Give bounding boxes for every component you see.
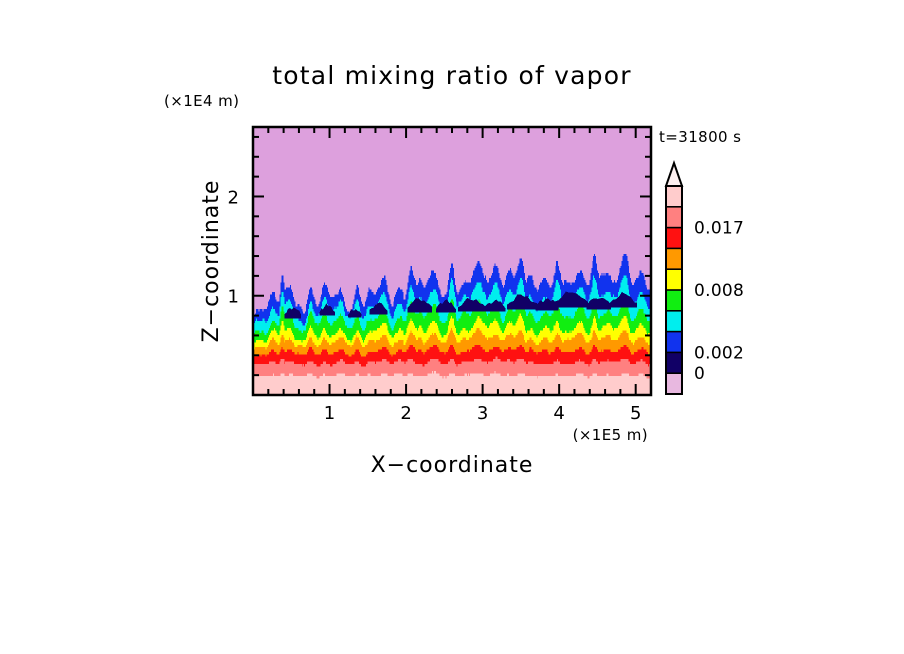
time-annotation: t=31800 s	[659, 128, 741, 146]
colorbar-tick-label: 0.008	[694, 281, 744, 301]
y-tick-label: 2	[228, 187, 239, 208]
y-axis-title: Z−coordinate	[199, 180, 224, 343]
x-axis-title: X−coordinate	[371, 453, 534, 478]
plot-area	[253, 127, 651, 395]
x-tick-label: 3	[477, 403, 488, 424]
y-axis-multiplier-label: (×1E4 m)	[164, 92, 239, 110]
colorbar-tick-label: 0	[694, 364, 705, 384]
colorbar-tick-label: 0.017	[694, 219, 744, 239]
contour-plot-figure: total mixing ratio of vapor (×1E4 m) 123…	[0, 0, 904, 654]
y-tick-label: 1	[228, 287, 239, 308]
x-tick-label: 2	[400, 403, 411, 424]
colorbar-tick-label: 0.002	[694, 343, 744, 363]
x-tick-label: 1	[324, 403, 335, 424]
x-tick-label: 4	[553, 403, 564, 424]
x-tick-label: 5	[630, 403, 641, 424]
page-title: total mixing ratio of vapor	[272, 61, 631, 90]
x-axis-multiplier-label: (×1E5 m)	[573, 426, 648, 444]
